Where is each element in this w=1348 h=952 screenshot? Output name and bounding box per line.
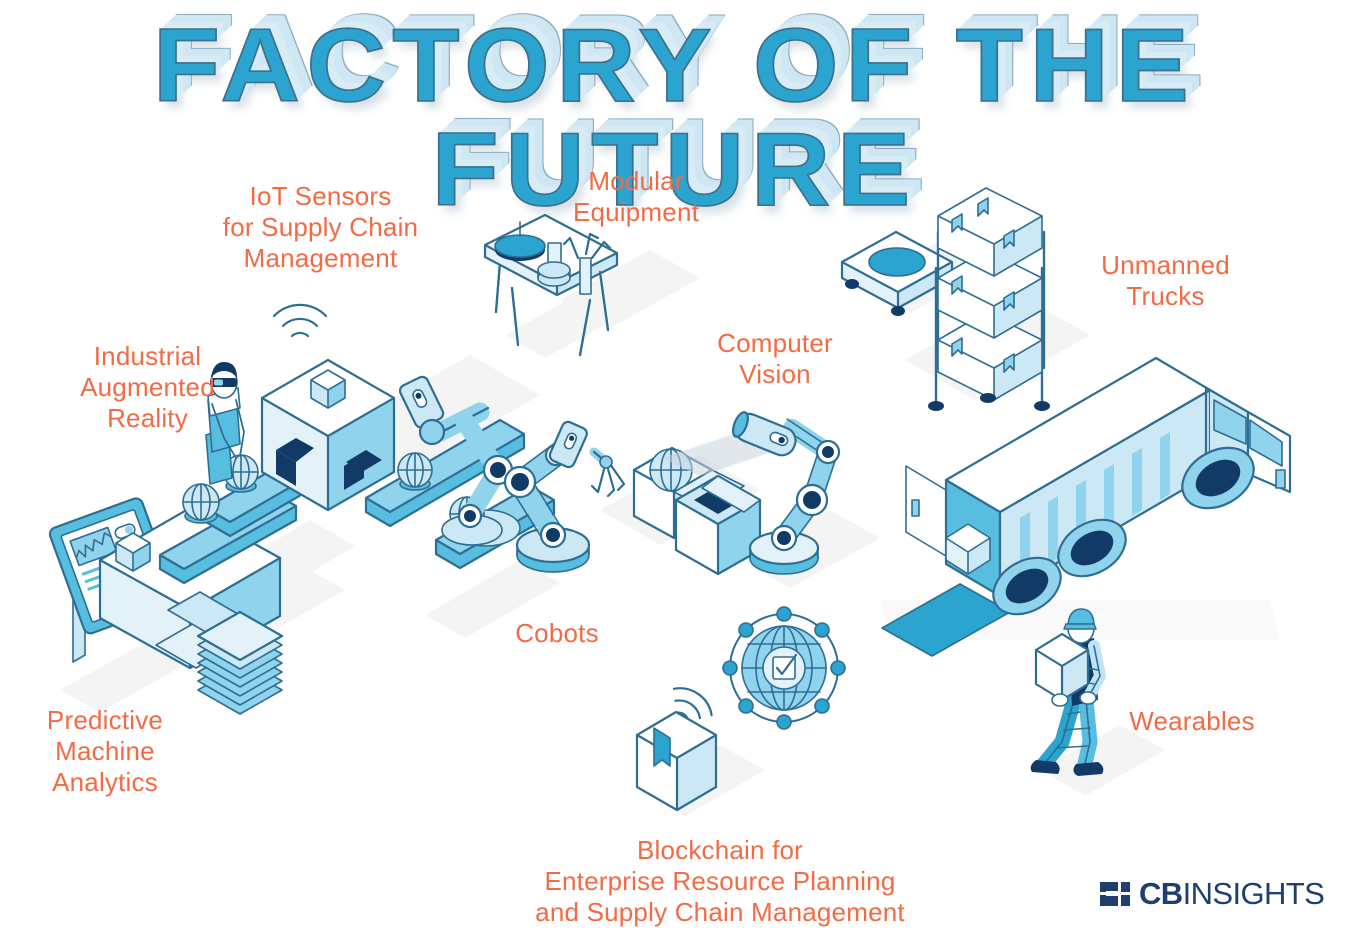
label-cobots: Cobots [487,618,627,649]
label-industrial-augmented-reality: Industrial Augmented Reality [60,341,235,434]
iot-hub-cube [262,305,394,510]
infographic-canvas: FACTORY OF THE FUTURE .ln{fill:none;stro… [0,0,1348,952]
label-iot-sensors: IoT Sensors for Supply Chain Management [218,181,423,274]
logo-text-light: INSIGHTS [1183,876,1325,911]
label-modular-equipment: Modular Equipment [556,166,716,228]
cb-insights-mark-icon [1100,882,1130,906]
label-predictive-machine-analytics: Predictive Machine Analytics [20,705,190,798]
gripper-claw [592,452,624,496]
blockchain-globe [723,607,845,729]
cb-insights-wordmark: CBINSIGHTS [1139,876,1324,912]
cb-insights-logo: CBINSIGHTS [1100,876,1324,912]
factory-illustration: .ln{fill:none;stroke:#2E6E93;stroke-widt… [0,0,1348,952]
smart-package [637,681,717,810]
label-unmanned-trucks: Unmanned Trucks [1078,250,1253,312]
label-wearables: Wearables [1112,706,1272,737]
label-computer-vision: Computer Vision [695,328,855,390]
wifi-icon [274,305,326,336]
logo-text-bold: CB [1139,876,1183,911]
label-blockchain-erp: Blockchain for Enterprise Resource Plann… [500,835,940,928]
